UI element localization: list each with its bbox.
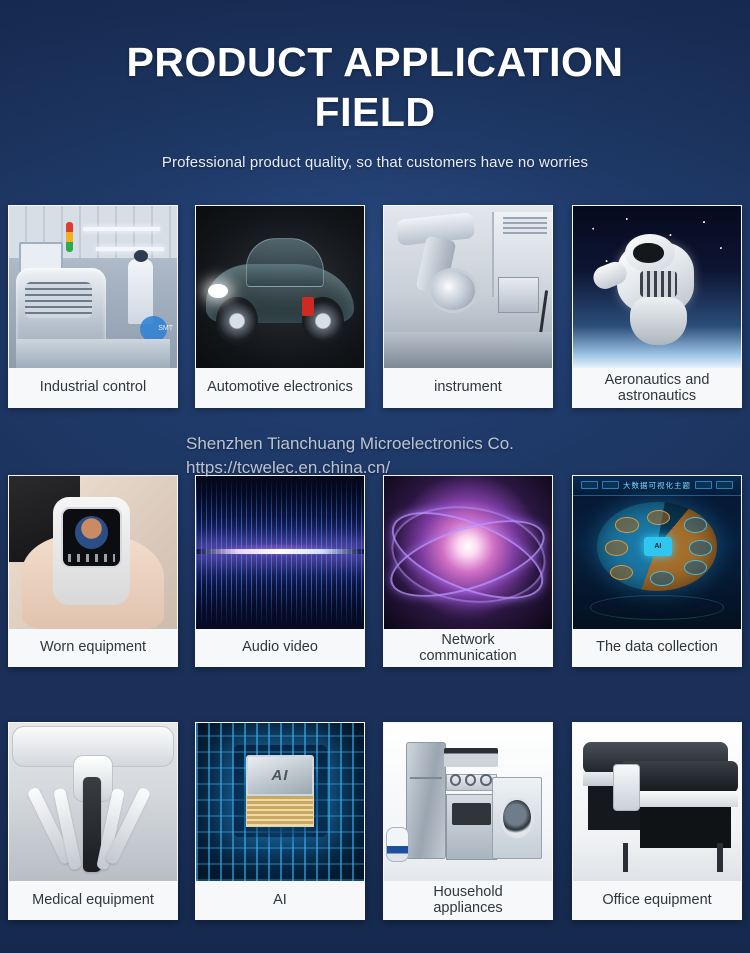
application-card-label: instrument xyxy=(384,368,552,407)
application-card-data-collection[interactable]: 大数据可视化主题 AI The data collection xyxy=(572,475,742,667)
automotive-electronics-photo xyxy=(196,206,364,368)
watermark-company: Shenzhen Tianchuang Microelectronics Co. xyxy=(186,432,626,456)
application-card-label: Network communication xyxy=(384,629,552,666)
application-card-instrument[interactable]: instrument xyxy=(383,205,553,408)
chip-label: AI xyxy=(246,755,313,796)
application-card-household-appliances[interactable]: Household appliances xyxy=(383,722,553,920)
page-title: PRODUCT APPLICATION FIELD xyxy=(0,0,750,137)
application-card-label-line1: Household xyxy=(433,884,502,900)
medical-equipment-photo xyxy=(9,723,177,881)
instrument-photo xyxy=(384,206,552,368)
application-card-label: Household appliances xyxy=(384,881,552,919)
ai-chip-photo: AI xyxy=(196,723,364,881)
network-communication-photo xyxy=(384,476,552,629)
application-card-label: Medical equipment xyxy=(9,881,177,919)
application-card-label-line1: Aeronautics and xyxy=(605,372,710,388)
data-collection-photo: 大数据可视化主题 AI xyxy=(573,476,741,629)
application-card-label: Aeronautics and astronautics xyxy=(573,368,741,407)
photo-corner-text: SMT xyxy=(158,325,173,332)
application-card-industrial-control[interactable]: SMT Industrial control xyxy=(8,205,178,408)
office-equipment-photo xyxy=(573,723,741,881)
watermark: Shenzhen Tianchuang Microelectronics Co.… xyxy=(186,432,626,480)
industrial-control-photo: SMT xyxy=(9,206,177,368)
application-card-label-line1: Network xyxy=(441,632,494,648)
application-card-label: Office equipment xyxy=(573,881,741,919)
application-card-ai[interactable]: AI AI xyxy=(195,722,365,920)
application-card-network-communication[interactable]: Network communication xyxy=(383,475,553,667)
application-card-aeronautics-astronautics[interactable]: Aeronautics and astronautics xyxy=(572,205,742,408)
application-card-label: AI xyxy=(196,881,364,919)
page-subtitle: Professional product quality, so that cu… xyxy=(0,137,750,171)
application-card-audio-video[interactable]: Audio video xyxy=(195,475,365,667)
page-title-line2: FIELD xyxy=(0,87,750,137)
application-card-label-line2: communication xyxy=(419,648,517,664)
application-card-label: The data collection xyxy=(573,629,741,666)
application-card-medical-equipment[interactable]: Medical equipment xyxy=(8,722,178,920)
worn-equipment-photo xyxy=(9,476,177,629)
household-appliances-photo xyxy=(384,723,552,881)
application-card-label: Automotive electronics xyxy=(196,368,364,407)
audio-video-photo xyxy=(196,476,364,629)
page-header: PRODUCT APPLICATION FIELD Professional p… xyxy=(0,0,750,171)
ai-node-label: AI xyxy=(644,537,673,555)
aeronautics-astronautics-photo xyxy=(573,206,741,368)
application-card-worn-equipment[interactable]: Worn equipment xyxy=(8,475,178,667)
dashboard-title-text: 大数据可视化主题 xyxy=(623,480,691,491)
product-application-field-page: PRODUCT APPLICATION FIELD Professional p… xyxy=(0,0,750,953)
application-card-label: Industrial control xyxy=(9,368,177,407)
page-title-line1: PRODUCT APPLICATION xyxy=(127,39,624,85)
application-card-label-line2: appliances xyxy=(433,900,502,916)
application-card-automotive-electronics[interactable]: Automotive electronics xyxy=(195,205,365,408)
application-card-label: Worn equipment xyxy=(9,629,177,666)
application-card-label: Audio video xyxy=(196,629,364,666)
application-card-office-equipment[interactable]: Office equipment xyxy=(572,722,742,920)
application-card-label-line2: astronautics xyxy=(618,388,696,404)
